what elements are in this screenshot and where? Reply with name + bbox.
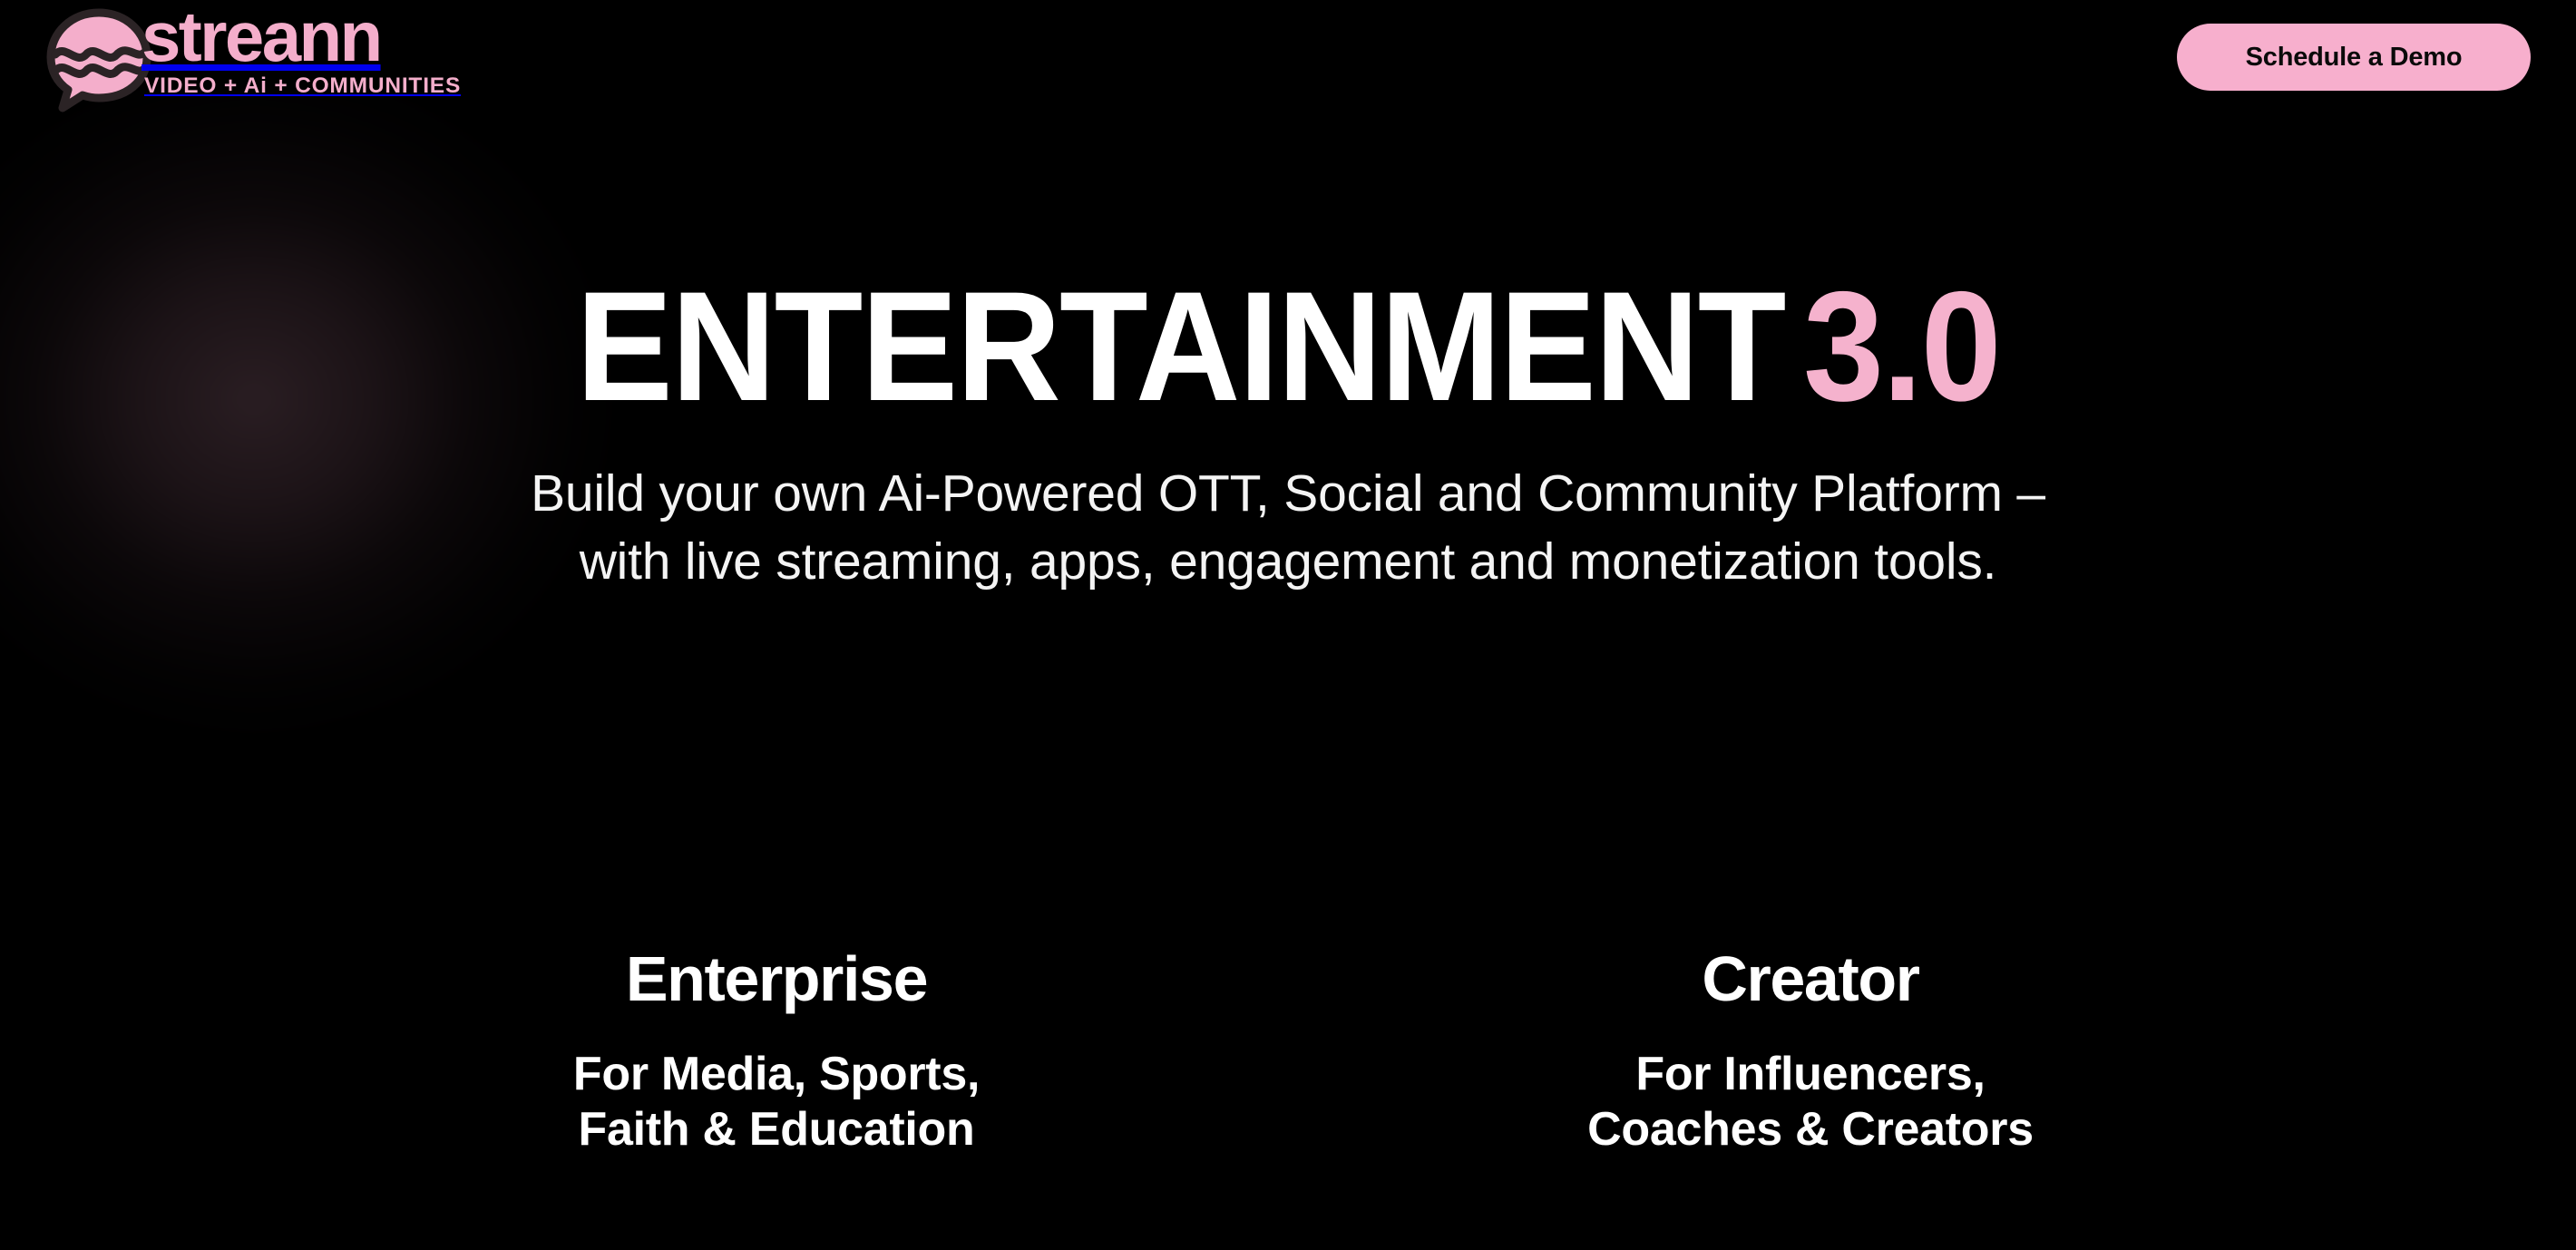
segment-enterprise-description: For Media, Sports, Faith & Education <box>259 1047 1293 1158</box>
hero-section: ENTERTAINMENT3.0 Build your own Ai-Power… <box>0 272 2576 597</box>
segment-enterprise[interactable]: Enterprise For Media, Sports, Faith & Ed… <box>259 947 1293 1158</box>
hero-headline: ENTERTAINMENT3.0 <box>90 272 2485 422</box>
brand-text: streann VIDEO + Ai + COMMUNITIES <box>141 7 461 99</box>
segments-section: Enterprise For Media, Sports, Faith & Ed… <box>0 947 2576 1158</box>
brand-tagline: VIDEO + Ai + COMMUNITIES <box>144 73 461 99</box>
hero-subheadline: Build your own Ai-Powered OTT, Social an… <box>490 460 2086 596</box>
brand-wordmark: streann <box>141 7 461 67</box>
segment-enterprise-title: Enterprise <box>259 947 1293 1011</box>
segment-creator[interactable]: Creator For Influencers, Coaches & Creat… <box>1293 947 2327 1158</box>
streann-speech-bubble-waves-icon <box>40 5 158 114</box>
segment-creator-title: Creator <box>1293 947 2327 1011</box>
schedule-demo-button[interactable]: Schedule a Demo <box>2177 24 2531 91</box>
hero-headline-accent: 3.0 <box>1803 259 2000 434</box>
hero-headline-main: ENTERTAINMENT <box>576 259 1784 434</box>
brand-logo-link[interactable]: streann VIDEO + Ai + COMMUNITIES <box>40 4 461 114</box>
segment-creator-description: For Influencers, Coaches & Creators <box>1293 1047 2327 1158</box>
landing-page: streann VIDEO + Ai + COMMUNITIES Schedul… <box>0 0 2576 1250</box>
site-header: streann VIDEO + Ai + COMMUNITIES Schedul… <box>0 0 2576 116</box>
